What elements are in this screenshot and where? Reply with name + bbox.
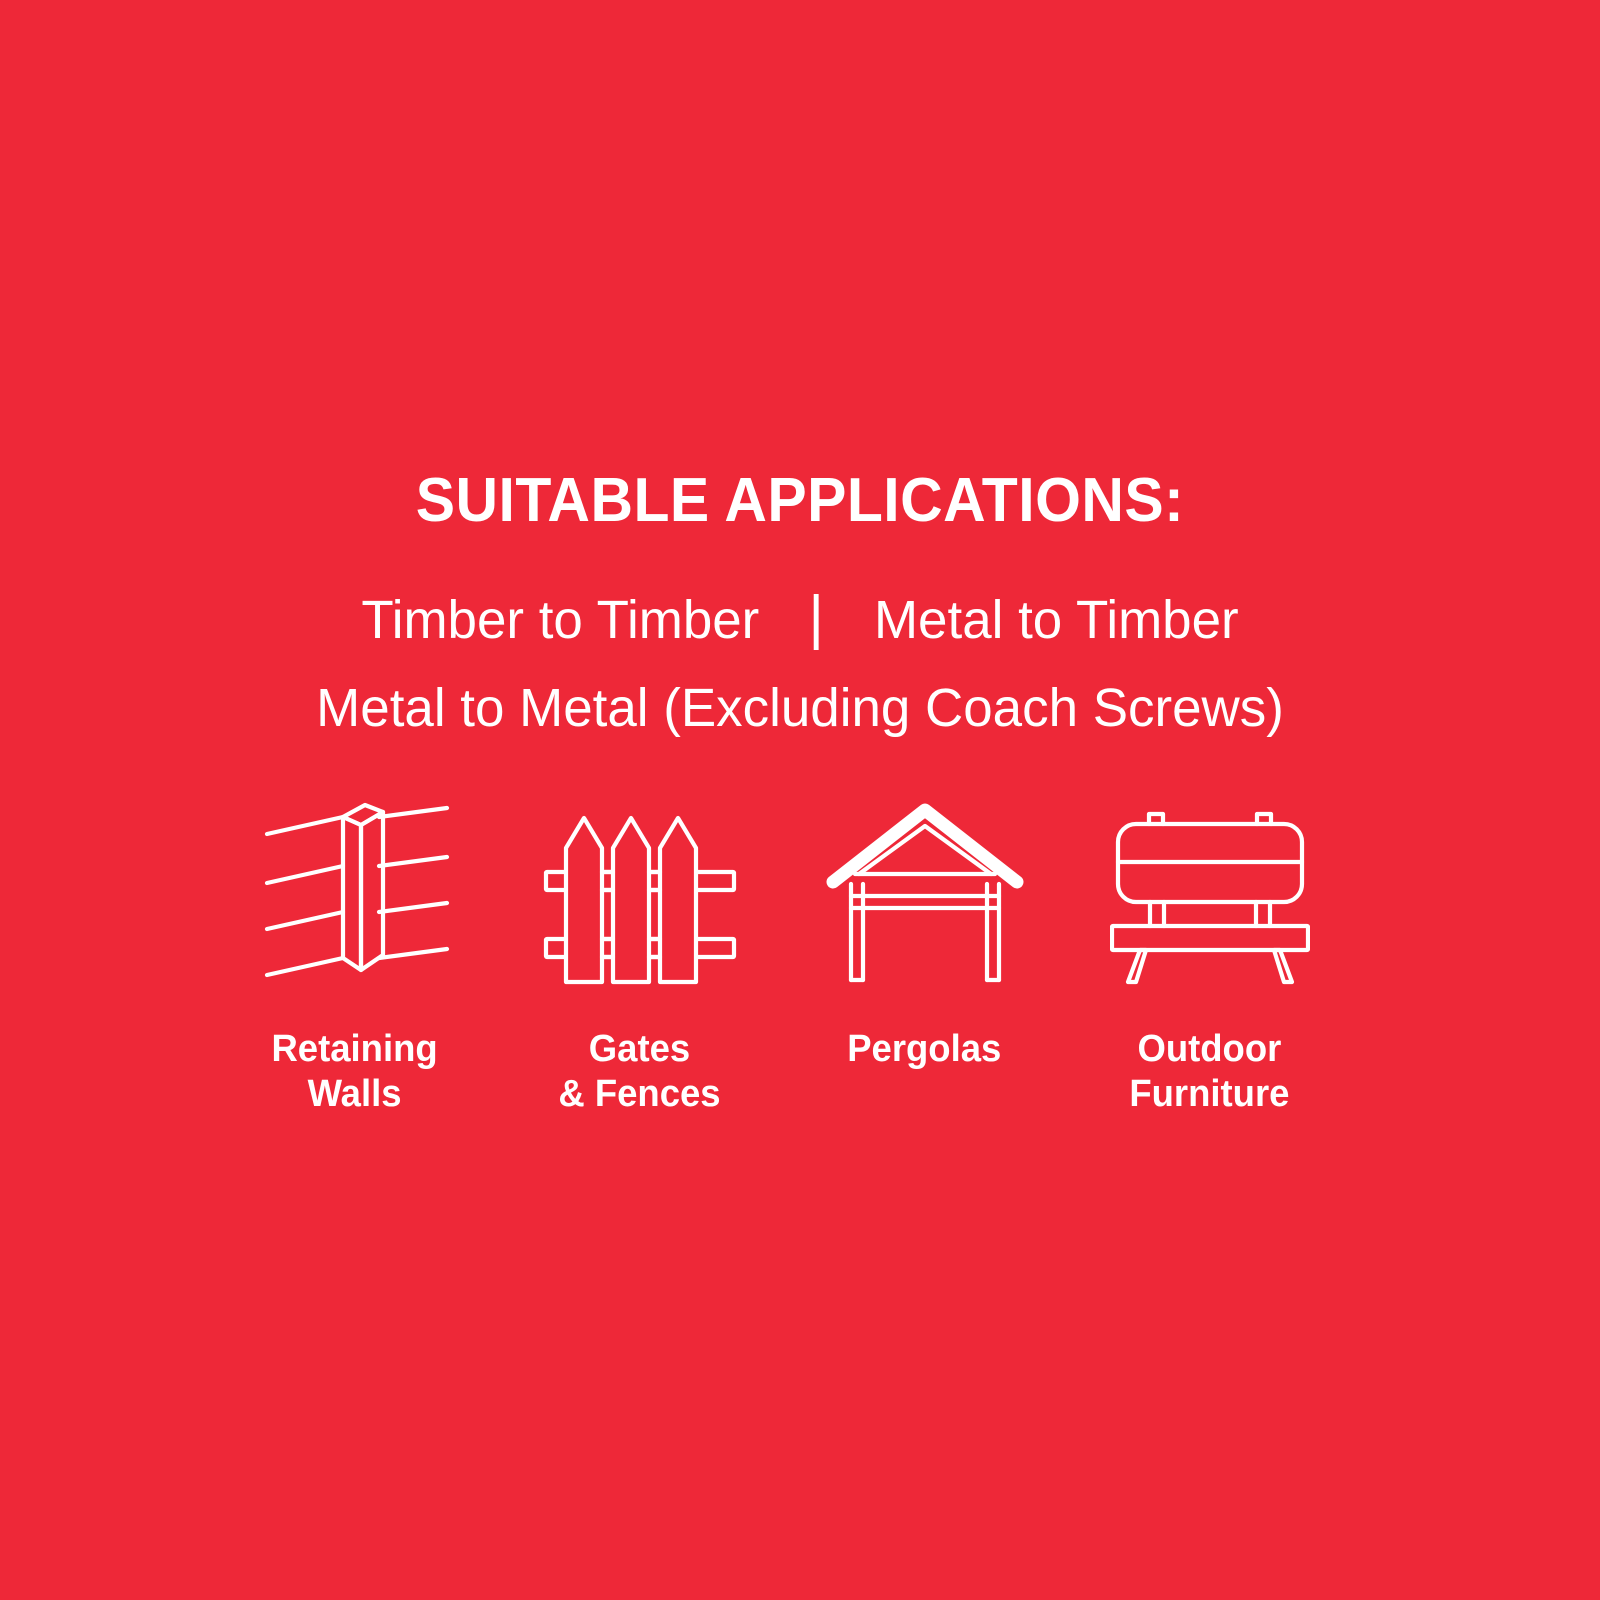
picket-fence-icon bbox=[540, 800, 740, 985]
promo-panel: SUITABLE APPLICATIONS: Timber to Timber … bbox=[0, 0, 1600, 1600]
application-label-gates-fences: Gates & Fences bbox=[558, 1027, 720, 1117]
application-card-pergolas: Pergolas bbox=[782, 800, 1067, 1072]
application-timber-to-timber: Timber to Timber bbox=[361, 578, 759, 662]
application-label-outdoor-furniture: Outdoor Furniture bbox=[1129, 1027, 1289, 1117]
heading-block: SUITABLE APPLICATIONS: Timber to Timber … bbox=[0, 466, 1600, 750]
application-card-gates-fences: Gates & Fences bbox=[497, 800, 782, 1117]
applications-line-1: Timber to Timber Metal to Timber bbox=[16, 578, 1584, 662]
application-metal-to-timber: Metal to Timber bbox=[874, 578, 1239, 662]
vertical-divider-icon bbox=[814, 594, 819, 650]
park-bench-icon bbox=[1110, 800, 1310, 985]
application-label-retaining-walls: Retaining Walls bbox=[271, 1027, 437, 1117]
application-metal-to-metal: Metal to Metal (Excluding Coach Screws) bbox=[16, 666, 1584, 750]
page-title: SUITABLE APPLICATIONS: bbox=[40, 466, 1560, 536]
application-label-pergolas: Pergolas bbox=[847, 1027, 1001, 1072]
applications-icon-row: Retaining Walls bbox=[212, 800, 1392, 1117]
application-card-outdoor-furniture: Outdoor Furniture bbox=[1067, 800, 1352, 1117]
application-card-retaining-walls: Retaining Walls bbox=[212, 800, 497, 1117]
retaining-wall-icon bbox=[255, 800, 455, 985]
pergola-icon bbox=[825, 800, 1025, 985]
